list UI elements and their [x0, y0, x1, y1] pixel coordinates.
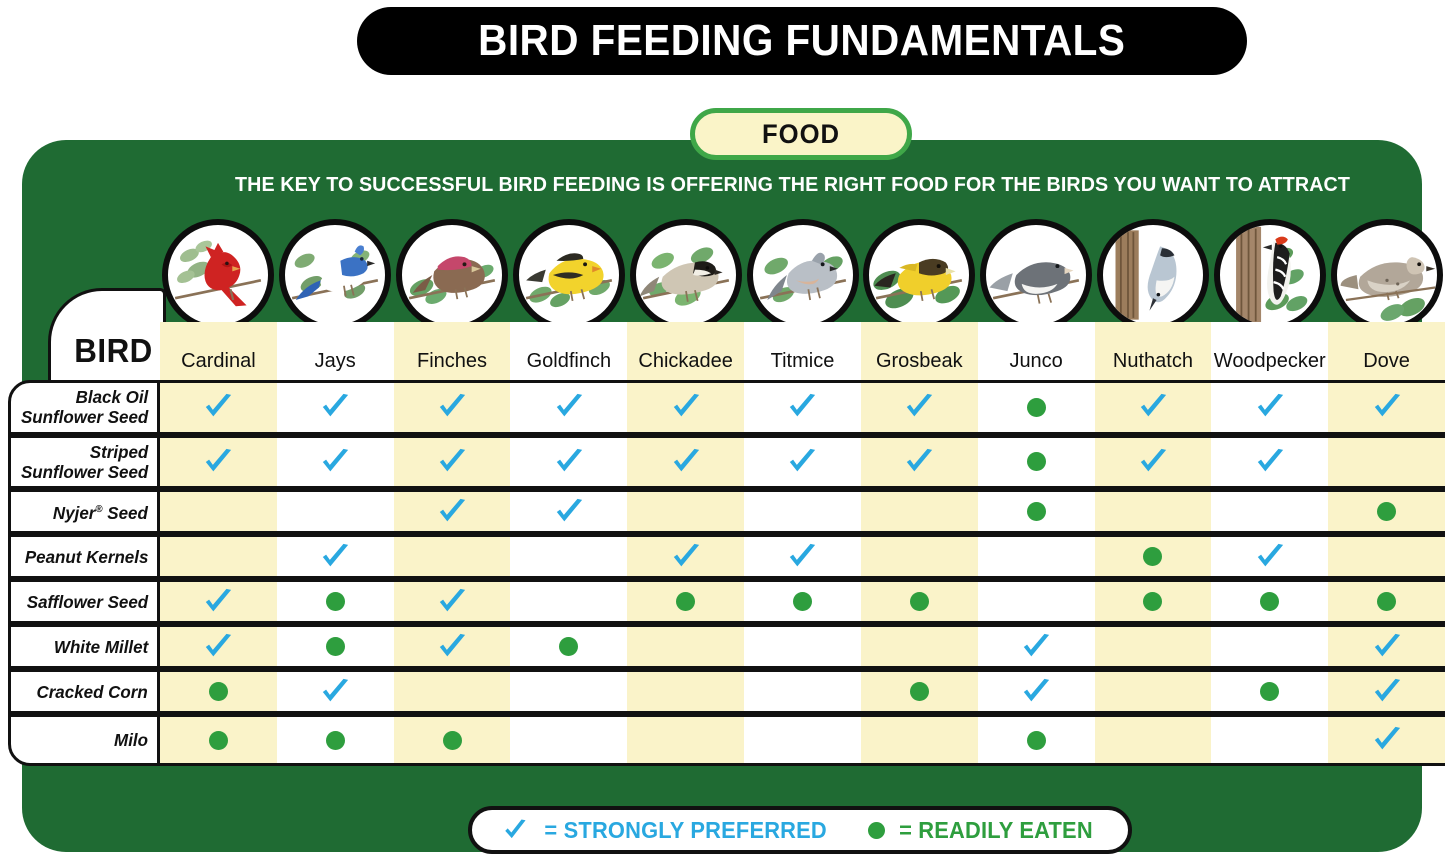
- matrix-cell-finches[interactable]: [394, 582, 511, 621]
- matrix-cell-woodpecker[interactable]: [1211, 383, 1328, 432]
- dot-icon: [676, 592, 695, 611]
- dot-icon: [209, 731, 228, 750]
- check-icon: [1255, 392, 1285, 422]
- dot-icon: [1260, 592, 1279, 611]
- check-icon: [1021, 677, 1051, 707]
- dot-icon: [1377, 502, 1396, 521]
- dot-icon: [559, 637, 578, 656]
- check-icon: [437, 497, 467, 527]
- food-row-label: Safflower Seed: [27, 592, 148, 612]
- bird-column-label-dove[interactable]: Dove: [1328, 322, 1445, 380]
- matrix-cell-junco[interactable]: [978, 492, 1095, 531]
- row-cells: [160, 579, 1445, 624]
- check-icon: [1255, 542, 1285, 572]
- matrix-cell-jays[interactable]: [277, 582, 394, 621]
- check-icon: [320, 447, 350, 477]
- nuthatch-bird-icon: [1097, 219, 1209, 331]
- title-banner: BIRD FEEDING FUNDAMENTALS: [357, 7, 1247, 75]
- food-row-label: Cracked Corn: [37, 682, 148, 702]
- food-row-label-cell[interactable]: Safflower Seed: [8, 579, 160, 624]
- dot-icon: [326, 731, 345, 750]
- matrix-cell-grosbeak[interactable]: [861, 438, 978, 487]
- dot-icon: [910, 682, 929, 701]
- matrix-cell-finches[interactable]: [394, 717, 511, 763]
- matrix-cell-dove[interactable]: [1328, 582, 1445, 621]
- matrix-cell-junco[interactable]: [978, 438, 1095, 487]
- bird-column-label-nuthatch[interactable]: Nuthatch: [1095, 322, 1212, 380]
- check-icon: [437, 392, 467, 422]
- food-row-label: Milo: [114, 730, 148, 750]
- matrix-cell-dove[interactable]: [1328, 537, 1445, 576]
- matrix-cell-junco[interactable]: [978, 383, 1095, 432]
- matrix-cell-chickadee[interactable]: [627, 717, 744, 763]
- check-icon: [203, 587, 233, 617]
- food-category-pill: FOOD: [690, 108, 912, 160]
- finch-bird-icon: [396, 219, 508, 331]
- bird-column-label-grosbeak[interactable]: Grosbeak: [861, 322, 978, 380]
- check-icon: [1372, 392, 1402, 422]
- goldfinch-bird-icon: [513, 219, 625, 331]
- matrix-cell-dove[interactable]: [1328, 438, 1445, 487]
- check-icon: [1372, 632, 1402, 662]
- matrix-cell-woodpecker[interactable]: [1211, 537, 1328, 576]
- cardinal-bird-icon: [162, 219, 274, 331]
- check-icon: [437, 632, 467, 662]
- row-cells: [160, 380, 1445, 435]
- bird-column-label-chickadee[interactable]: Chickadee: [627, 322, 744, 380]
- matrix-cell-finches[interactable]: [394, 537, 511, 576]
- matrix-cell-woodpecker[interactable]: [1211, 627, 1328, 666]
- matrix-cell-grosbeak[interactable]: [861, 492, 978, 531]
- matrix-cell-jays[interactable]: [277, 672, 394, 711]
- matrix-cell-woodpecker[interactable]: [1211, 582, 1328, 621]
- dove-bird-icon: [1331, 219, 1443, 331]
- check-icon: [554, 392, 584, 422]
- food-row-label-cell[interactable]: White Millet: [8, 624, 160, 669]
- matrix-cell-goldfinch[interactable]: [510, 582, 627, 621]
- bird-column-label-junco[interactable]: Junco: [978, 322, 1095, 380]
- matrix-cell-goldfinch[interactable]: [510, 717, 627, 763]
- check-icon: [502, 817, 528, 843]
- matrix-cell-nuthatch[interactable]: [1095, 627, 1212, 666]
- matrix-cell-junco[interactable]: [978, 717, 1095, 763]
- row-cells: [160, 669, 1445, 714]
- matrix-cell-goldfinch[interactable]: [510, 383, 627, 432]
- matrix-cell-grosbeak[interactable]: [861, 627, 978, 666]
- dot-icon: [1027, 398, 1046, 417]
- page-title: BIRD FEEDING FUNDAMENTALS: [478, 16, 1125, 66]
- matrix-cell-woodpecker[interactable]: [1211, 492, 1328, 531]
- matrix-cell-junco[interactable]: [978, 672, 1095, 711]
- check-icon: [787, 542, 817, 572]
- dot-icon: [443, 731, 462, 750]
- food-row-label-cell[interactable]: Nyjer® Seed: [8, 489, 160, 534]
- dot-icon: [1027, 502, 1046, 521]
- matrix-cell-goldfinch[interactable]: [510, 438, 627, 487]
- matrix-cell-titmice[interactable]: [744, 492, 861, 531]
- table-row: Milo: [8, 714, 1445, 766]
- matrix-cell-dove[interactable]: [1328, 383, 1445, 432]
- dot-icon: [1027, 452, 1046, 471]
- matrix-cell-finches[interactable]: [394, 438, 511, 487]
- matrix-cell-dove[interactable]: [1328, 717, 1445, 763]
- table-row: StripedSunflower Seed: [8, 435, 1445, 490]
- dot-icon: [1377, 592, 1396, 611]
- matrix-cell-grosbeak[interactable]: [861, 383, 978, 432]
- matrix-cell-jays[interactable]: [277, 717, 394, 763]
- matrix-cell-nuthatch[interactable]: [1095, 717, 1212, 763]
- matrix-cell-nuthatch[interactable]: [1095, 383, 1212, 432]
- matrix-cell-jays[interactable]: [277, 438, 394, 487]
- matrix-cell-chickadee[interactable]: [627, 582, 744, 621]
- check-icon: [320, 677, 350, 707]
- dot-icon: [326, 637, 345, 656]
- table-row: Safflower Seed: [8, 579, 1445, 624]
- table-row: Cracked Corn: [8, 669, 1445, 714]
- titmouse-bird-icon: [747, 219, 859, 331]
- matrix-cell-dove[interactable]: [1328, 672, 1445, 711]
- matrix-cell-goldfinch[interactable]: [510, 492, 627, 531]
- matrix-cell-cardinal[interactable]: [160, 672, 277, 711]
- matrix-cell-junco[interactable]: [978, 627, 1095, 666]
- matrix-cell-goldfinch[interactable]: [510, 672, 627, 711]
- matrix-cell-cardinal[interactable]: [160, 537, 277, 576]
- matrix-cell-titmice[interactable]: [744, 627, 861, 666]
- check-icon: [203, 447, 233, 477]
- check-icon: [1255, 447, 1285, 477]
- matrix-cell-titmice[interactable]: [744, 383, 861, 432]
- matrix-cell-chickadee[interactable]: [627, 438, 744, 487]
- check-icon: [437, 447, 467, 477]
- chart-subtitle: THE KEY TO SUCCESSFUL BIRD FEEDING IS OF…: [185, 172, 1399, 198]
- matrix-cell-finches[interactable]: [394, 492, 511, 531]
- legend-dot-label: = READILY EATEN: [899, 817, 1093, 844]
- row-cells: [160, 534, 1445, 579]
- row-cells: [160, 435, 1445, 490]
- bird-column-label-goldfinch[interactable]: Goldfinch: [510, 322, 627, 380]
- row-cells: [160, 624, 1445, 669]
- table-row: Nyjer® Seed: [8, 489, 1445, 534]
- matrix-cell-grosbeak[interactable]: [861, 537, 978, 576]
- matrix-cell-junco[interactable]: [978, 537, 1095, 576]
- dot-icon: [910, 592, 929, 611]
- check-icon: [904, 392, 934, 422]
- check-icon: [554, 447, 584, 477]
- dot-icon: [1260, 682, 1279, 701]
- food-row-label-cell[interactable]: Cracked Corn: [8, 669, 160, 714]
- junco-bird-icon: [980, 219, 1092, 331]
- matrix-cell-cardinal[interactable]: [160, 492, 277, 531]
- matrix-cell-grosbeak[interactable]: [861, 672, 978, 711]
- legend-check-label: = STRONGLY PREFERRED: [544, 817, 826, 844]
- food-row-label: Black OilSunflower Seed: [21, 387, 148, 427]
- matrix-cell-junco[interactable]: [978, 582, 1095, 621]
- table-row: Peanut Kernels: [8, 534, 1445, 579]
- matrix-cell-cardinal[interactable]: [160, 383, 277, 432]
- table-row: Black OilSunflower Seed: [8, 380, 1445, 435]
- matrix-cell-chickadee[interactable]: [627, 672, 744, 711]
- bird-column-label-woodpecker[interactable]: Woodpecker: [1211, 322, 1328, 380]
- legend: = STRONGLY PREFERRED = READILY EATEN: [468, 806, 1132, 854]
- matrix-cell-titmice[interactable]: [744, 438, 861, 487]
- check-icon: [904, 447, 934, 477]
- check-icon: [671, 542, 701, 572]
- matrix-cell-goldfinch[interactable]: [510, 627, 627, 666]
- grosbeak-bird-icon: [863, 219, 975, 331]
- matrix-cell-titmice[interactable]: [744, 537, 861, 576]
- bird-axis-tab: BIRD: [48, 288, 166, 380]
- matrix-cell-cardinal[interactable]: [160, 582, 277, 621]
- matrix-cell-woodpecker[interactable]: [1211, 672, 1328, 711]
- check-icon: [787, 392, 817, 422]
- matrix-cell-finches[interactable]: [394, 383, 511, 432]
- food-row-label: StripedSunflower Seed: [21, 442, 148, 482]
- matrix-cell-cardinal[interactable]: [160, 627, 277, 666]
- bird-portrait-strip: [160, 219, 1445, 331]
- row-cells: [160, 714, 1445, 766]
- check-icon: [203, 632, 233, 662]
- matrix-cell-finches[interactable]: [394, 627, 511, 666]
- check-icon: [787, 447, 817, 477]
- matrix-cell-goldfinch[interactable]: [510, 537, 627, 576]
- matrix-cell-chickadee[interactable]: [627, 537, 744, 576]
- check-icon: [1372, 725, 1402, 755]
- matrix-cell-titmice[interactable]: [744, 717, 861, 763]
- matrix-cell-chickadee[interactable]: [627, 627, 744, 666]
- check-icon: [671, 447, 701, 477]
- matrix-cell-nuthatch[interactable]: [1095, 582, 1212, 621]
- check-icon: [320, 392, 350, 422]
- matrix-cell-dove[interactable]: [1328, 492, 1445, 531]
- matrix-cell-titmice[interactable]: [744, 582, 861, 621]
- check-icon: [671, 392, 701, 422]
- dot-icon: [326, 592, 345, 611]
- bird-column-label-finches[interactable]: Finches: [394, 322, 511, 380]
- food-row-label-cell[interactable]: StripedSunflower Seed: [8, 435, 160, 490]
- matrix-cell-jays[interactable]: [277, 627, 394, 666]
- matrix-cell-nuthatch[interactable]: [1095, 438, 1212, 487]
- matrix-cell-nuthatch[interactable]: [1095, 537, 1212, 576]
- bluejay-bird-icon: [279, 219, 391, 331]
- food-row-label: White Millet: [54, 637, 148, 657]
- matrix-cell-finches[interactable]: [394, 672, 511, 711]
- dot-icon: [1143, 547, 1162, 566]
- row-cells: [160, 489, 1445, 534]
- food-row-label: Nyjer® Seed: [53, 500, 148, 523]
- dot-icon: [793, 592, 812, 611]
- matrix-cell-woodpecker[interactable]: [1211, 717, 1328, 763]
- matrix-cell-chickadee[interactable]: [627, 383, 744, 432]
- food-row-label-cell[interactable]: Peanut Kernels: [8, 534, 160, 579]
- bird-axis-label: BIRD: [75, 332, 161, 380]
- matrix-cell-nuthatch[interactable]: [1095, 492, 1212, 531]
- food-row-label-cell[interactable]: Black OilSunflower Seed: [8, 380, 160, 435]
- matrix-cell-jays[interactable]: [277, 537, 394, 576]
- check-icon: [437, 587, 467, 617]
- bird-column-label-cardinal[interactable]: Cardinal: [160, 322, 277, 380]
- matrix-cell-grosbeak[interactable]: [861, 582, 978, 621]
- matrix-cell-cardinal[interactable]: [160, 438, 277, 487]
- woodpecker-bird-icon: [1214, 219, 1326, 331]
- table-row: White Millet: [8, 624, 1445, 669]
- check-icon: [203, 392, 233, 422]
- feeding-matrix: Black OilSunflower SeedStripedSunflower …: [8, 380, 1445, 804]
- chickadee-bird-icon: [630, 219, 742, 331]
- matrix-cell-jays[interactable]: [277, 492, 394, 531]
- dot-icon: [868, 822, 885, 839]
- bird-column-label-jays[interactable]: Jays: [277, 322, 394, 380]
- food-pill-label: FOOD: [762, 119, 840, 150]
- food-row-label-cell[interactable]: Milo: [8, 714, 160, 766]
- dot-icon: [1027, 731, 1046, 750]
- bird-column-label-titmice[interactable]: Titmice: [744, 322, 861, 380]
- check-icon: [1138, 392, 1168, 422]
- bird-column-header-row: CardinalJaysFinchesGoldfinchChickadeeTit…: [160, 322, 1445, 380]
- matrix-cell-grosbeak[interactable]: [861, 717, 978, 763]
- check-icon: [1372, 677, 1402, 707]
- matrix-cell-cardinal[interactable]: [160, 717, 277, 763]
- dot-icon: [1143, 592, 1162, 611]
- check-icon: [320, 542, 350, 572]
- matrix-cell-woodpecker[interactable]: [1211, 438, 1328, 487]
- check-icon: [554, 497, 584, 527]
- matrix-cell-chickadee[interactable]: [627, 492, 744, 531]
- food-row-label: Peanut Kernels: [24, 547, 148, 567]
- matrix-cell-titmice[interactable]: [744, 672, 861, 711]
- check-icon: [1138, 447, 1168, 477]
- check-icon: [1021, 632, 1051, 662]
- matrix-cell-dove[interactable]: [1328, 627, 1445, 666]
- dot-icon: [209, 682, 228, 701]
- matrix-cell-jays[interactable]: [277, 383, 394, 432]
- matrix-cell-nuthatch[interactable]: [1095, 672, 1212, 711]
